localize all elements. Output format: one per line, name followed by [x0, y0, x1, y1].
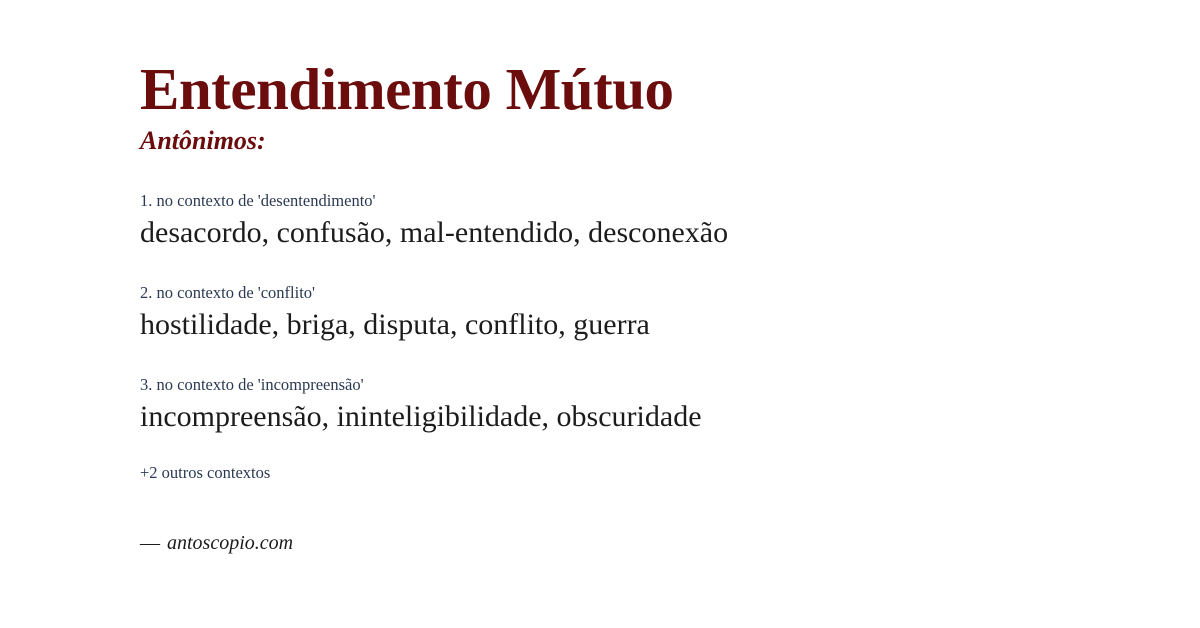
sense-terms: hostilidade, briga, disputa, conflito, g… — [140, 306, 1200, 344]
attribution-source: antoscopio.com — [167, 532, 293, 554]
sense-item: 2. no contexto de 'conflito' hostilidade… — [140, 283, 1200, 344]
sense-context-label: 3. no contexto de 'incompreensão' — [140, 375, 1200, 396]
sense-terms: incompreensão, ininteligibilidade, obscu… — [140, 398, 1200, 436]
sense-context-label: 1. no contexto de 'desentendimento' — [140, 191, 1200, 212]
em-dash-icon: — — [140, 532, 160, 554]
sense-list: 1. no contexto de 'desentendimento' desa… — [140, 191, 1200, 436]
sense-item: 3. no contexto de 'incompreensão' incomp… — [140, 375, 1200, 436]
antonyms-card: Entendimento Mútuo Antônimos: 1. no cont… — [0, 0, 1200, 628]
page-title: Entendimento Mútuo — [140, 58, 1200, 121]
sense-item: 1. no contexto de 'desentendimento' desa… — [140, 191, 1200, 252]
attribution: —antoscopio.com — [140, 531, 1200, 555]
sense-context-label: 2. no contexto de 'conflito' — [140, 283, 1200, 304]
card-header: Entendimento Mútuo Antônimos: — [140, 0, 1200, 155]
more-contexts-note: +2 outros contextos — [140, 463, 1200, 484]
section-label-antonyms: Antônimos: — [140, 126, 1200, 156]
sense-terms: desacordo, confusão, mal-entendido, desc… — [140, 214, 1200, 252]
